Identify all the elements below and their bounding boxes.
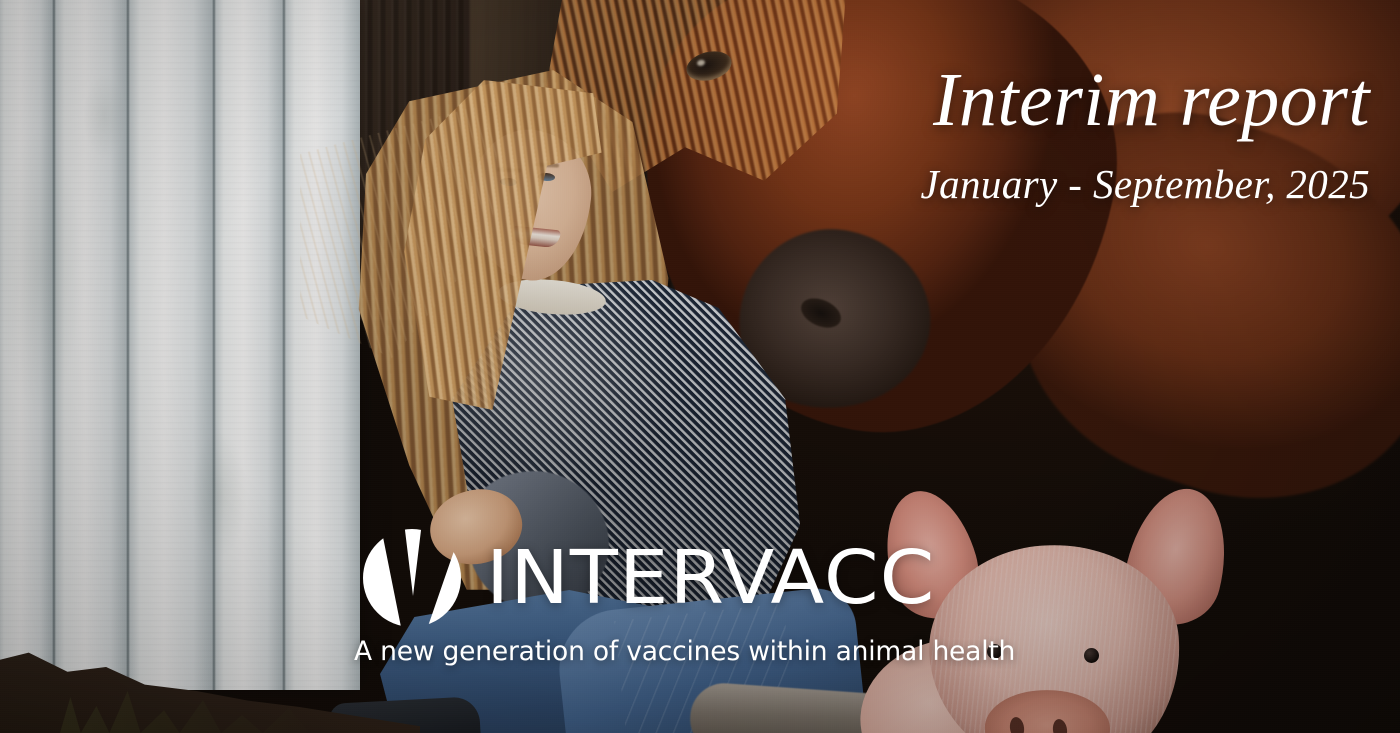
intervacc-wordmark: INTERVACC <box>486 541 936 615</box>
pig-eye-right <box>1084 648 1099 663</box>
report-cover-page: Interim report January - September, 2025… <box>0 0 1400 733</box>
intervacc-logo-lockup: INTERVACC A new generation of vaccines w… <box>352 528 1052 667</box>
report-period: January - September, 2025 <box>920 162 1370 207</box>
white-plank-wall <box>0 0 356 690</box>
report-title-block: Interim report January - September, 2025 <box>920 62 1370 207</box>
intervacc-tagline: A new generation of vaccines within anim… <box>354 636 1052 667</box>
page-title: Interim report <box>920 62 1370 140</box>
intervacc-v-mark-icon <box>352 528 472 628</box>
